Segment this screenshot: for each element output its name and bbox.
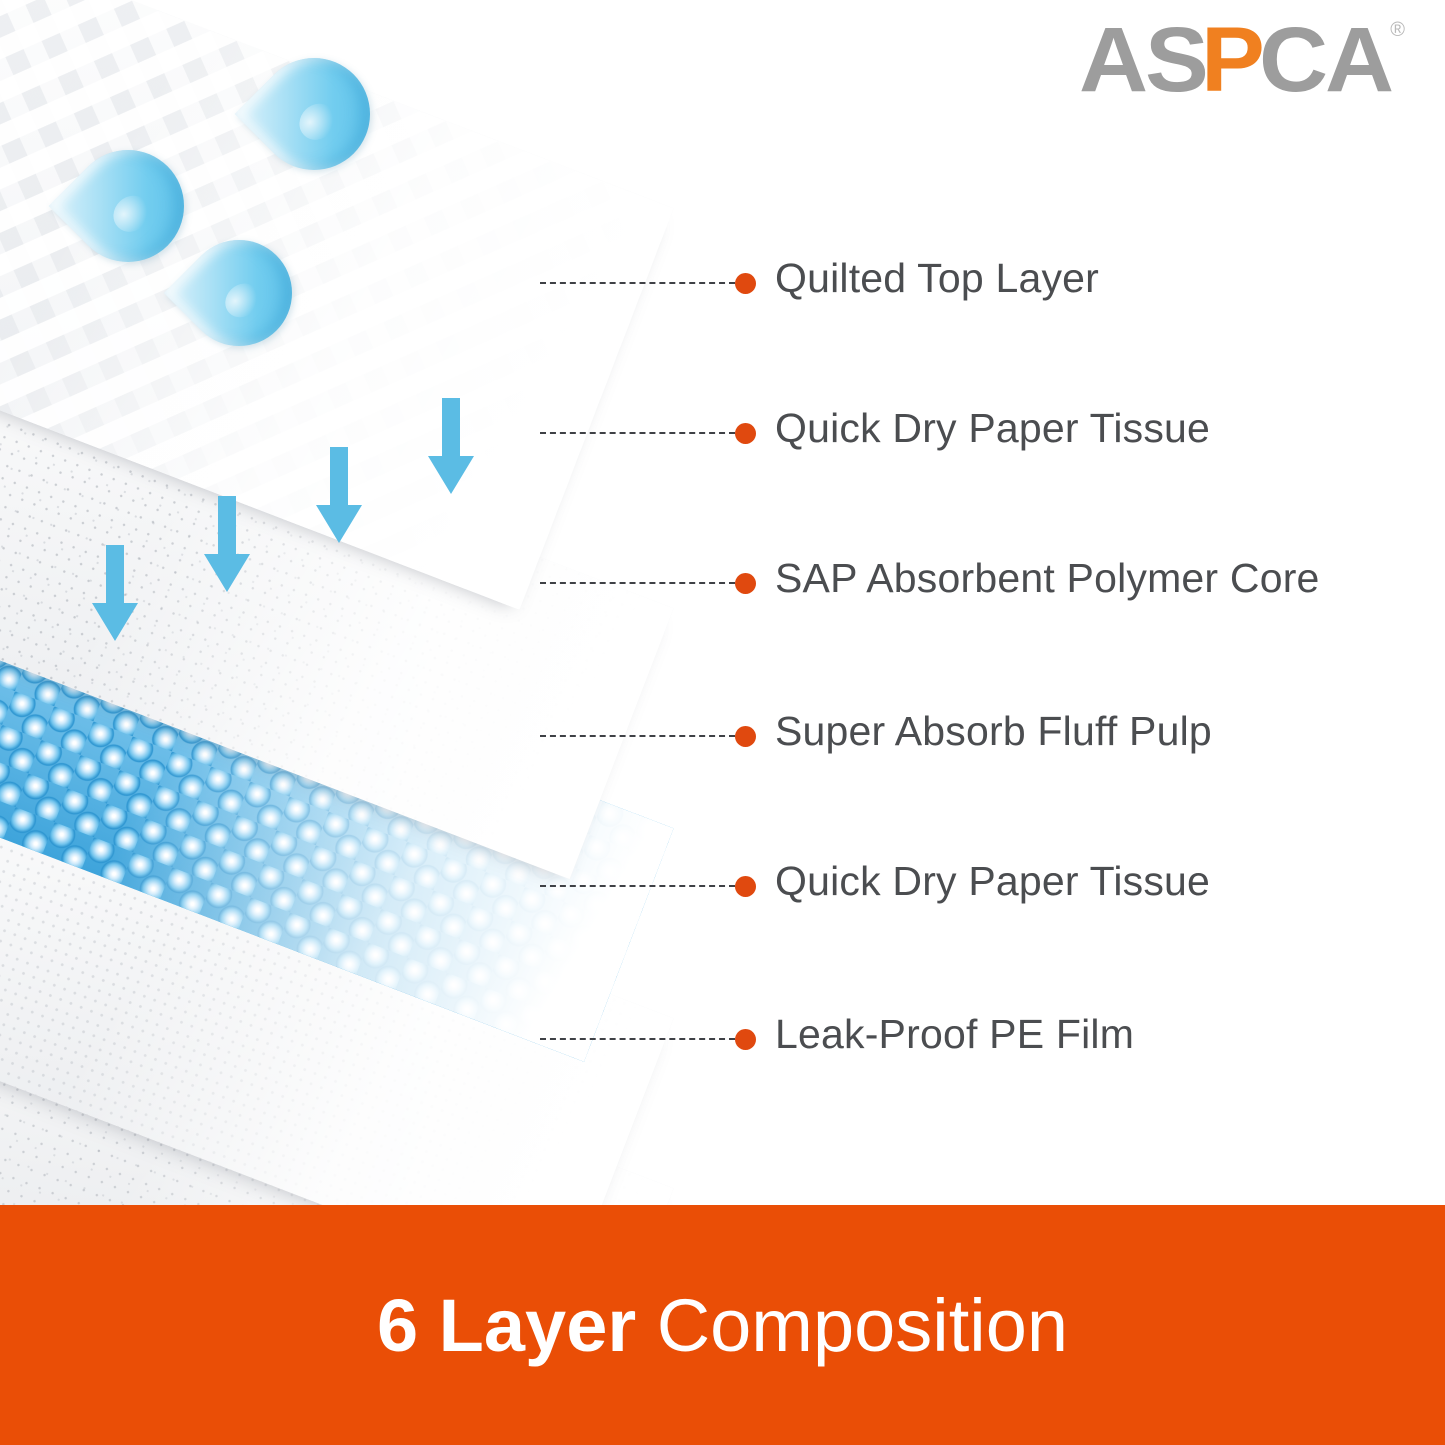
callout-label: Leak-Proof PE Film [775,1011,1134,1058]
leader-line [540,282,735,284]
banner-title: 6 Layer Composition [377,1283,1068,1368]
absorption-arrow-icon [312,447,366,543]
infographic-page: AS P CA ® Quilted Top Layer Quick Dry Pa… [0,0,1445,1445]
leader-line [540,1038,735,1040]
callout-dot [735,573,756,594]
registered-trademark-icon: ® [1390,20,1405,40]
aspca-logo: AS P CA ® [1079,14,1405,106]
callout-label: Super Absorb Fluff Pulp [775,708,1212,755]
leader-line [540,582,735,584]
callout-label: Quilted Top Layer [775,255,1099,302]
callout-dot [735,726,756,747]
leader-line [540,432,735,434]
absorption-arrow-icon [424,398,478,494]
absorption-arrow-icon [200,496,254,592]
logo-text-as: AS [1079,14,1206,106]
absorption-arrow-icon [88,545,142,641]
banner-title-regular: Composition [636,1284,1068,1367]
footer-banner: 6 Layer Composition [0,1205,1445,1445]
callout-label: Quick Dry Paper Tissue [775,858,1210,905]
callout-dot [735,1029,756,1050]
layer-stack-illustration [0,0,760,1210]
callout-dot [735,876,756,897]
banner-title-bold: 6 Layer [377,1284,636,1367]
leader-line [540,735,735,737]
callout-dot [735,423,756,444]
callout-dot [735,273,756,294]
callout-label: Quick Dry Paper Tissue [775,405,1210,452]
callout-label: SAP Absorbent Polymer Core [775,555,1320,602]
logo-text-ca: CA [1259,14,1391,106]
logo-text-p: P [1201,14,1262,106]
leader-line [540,885,735,887]
